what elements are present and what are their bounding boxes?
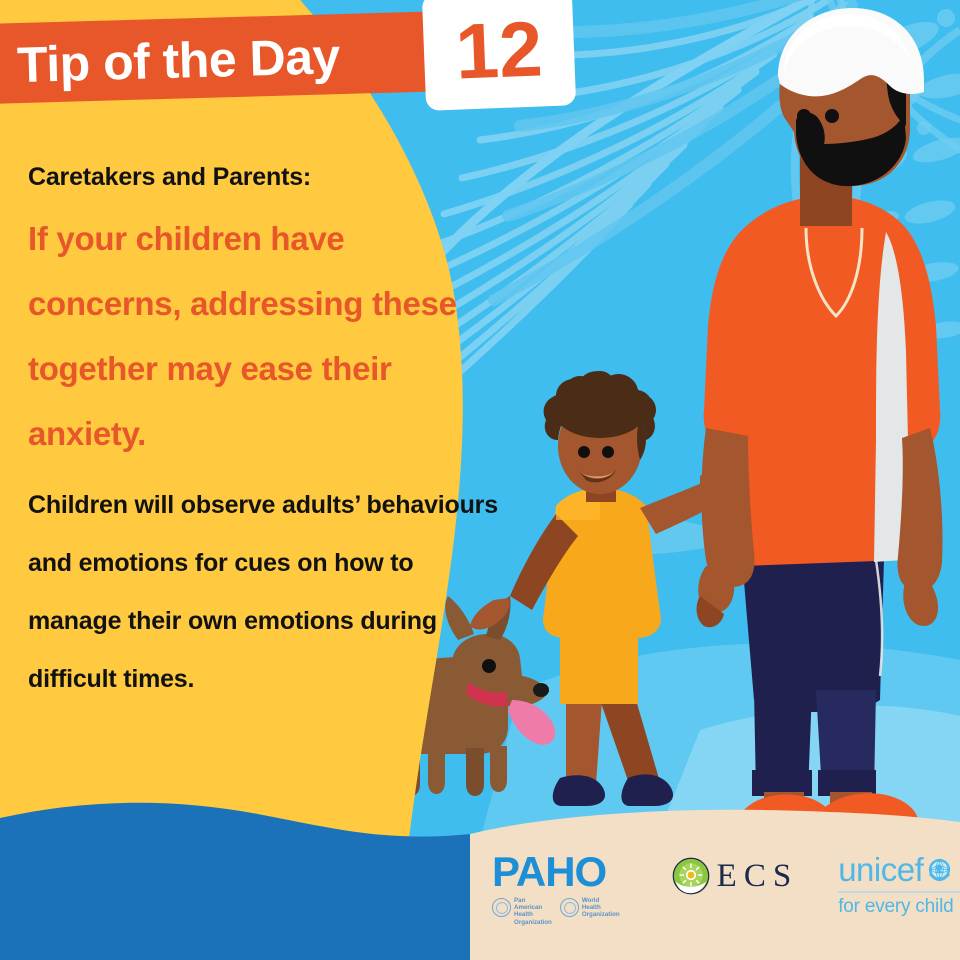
ecs-wordmark: ECS <box>717 858 799 895</box>
unicef-logo: unicef <box>838 853 960 918</box>
paho-who-seal-group: World Health Organization <box>560 897 620 919</box>
message-lead: Caretakers and Parents: <box>28 160 498 194</box>
paho-pan-american-seal-group: Pan American Health Organization <box>492 897 552 926</box>
message-accent: If your children have concerns, addressi… <box>28 206 498 466</box>
unicef-wordmark: unicef <box>838 853 923 887</box>
un-globe-emblem-icon <box>925 856 954 885</box>
tip-of-the-day-banner: Tip of the Day <box>0 11 456 104</box>
message-block: Caretakers and Parents: If your children… <box>28 160 498 708</box>
unicef-divider <box>838 891 960 893</box>
day-number: 12 <box>422 0 576 103</box>
paho-wordmark: PAHO <box>492 851 620 893</box>
paho-who-text: World Health Organization <box>582 897 620 919</box>
ecs-logo: ECS <box>672 857 799 895</box>
ecs-sun-icon <box>672 857 710 895</box>
who-seal-icon <box>560 898 579 917</box>
tip-of-the-day-poster: Tip of the Day 12 Caretakers and Parents… <box>0 0 960 960</box>
paho-logo: PAHO Pan American Health Organization Wo… <box>492 851 620 926</box>
paho-sublabels: Pan American Health Organization World H… <box>492 897 620 926</box>
banner-title: Tip of the Day <box>16 27 340 94</box>
day-number-badge: 12 <box>422 0 576 111</box>
partner-logos: PAHO Pan American Health Organization Wo… <box>470 845 960 960</box>
paho-pan-american-text: Pan American Health Organization <box>514 897 552 926</box>
message-body: Children will observe adults’ behaviours… <box>28 476 498 708</box>
unicef-tagline: for every child <box>838 895 960 918</box>
globe-seal-icon <box>492 898 511 917</box>
